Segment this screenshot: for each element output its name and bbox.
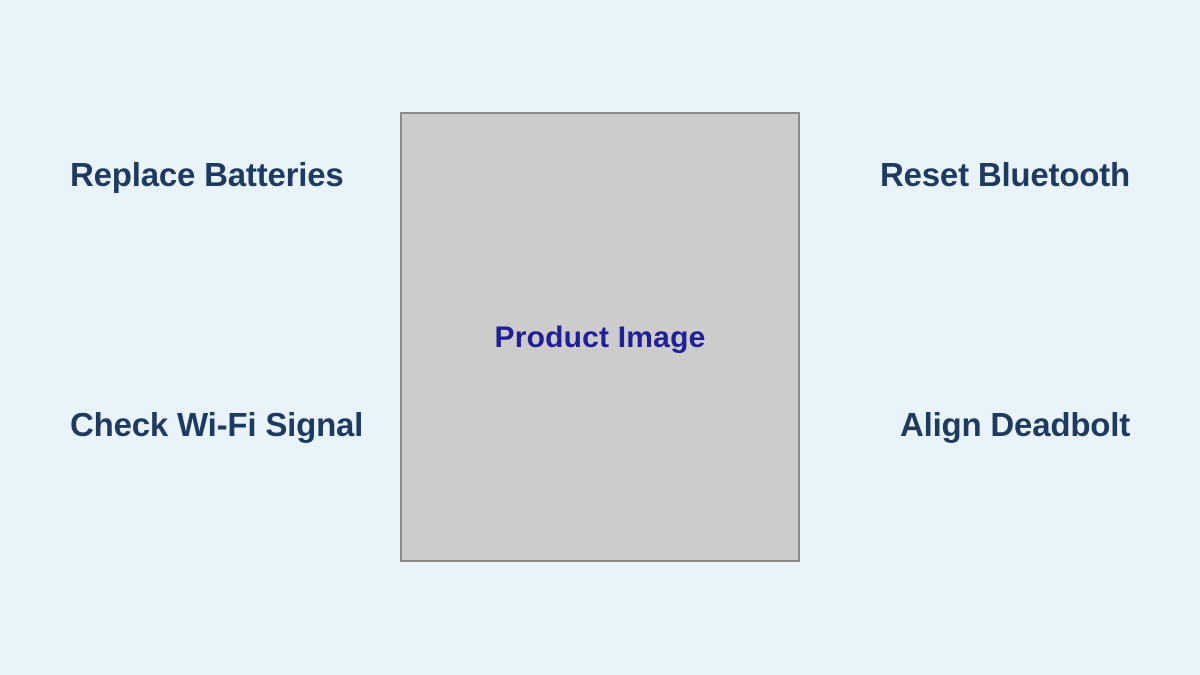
callout-label-top-right: Reset Bluetooth [880, 156, 1130, 193]
callout-align-deadbolt[interactable]: Align Deadbolt [810, 398, 1130, 452]
callout-reset-bluetooth[interactable]: Reset Bluetooth [810, 148, 1130, 202]
product-image-placeholder: Product Image [400, 112, 800, 562]
callout-check-wifi-signal[interactable]: Check Wi-Fi Signal [70, 398, 390, 452]
diagram-canvas: Replace Batteries Reset Bluetooth Check … [0, 0, 1200, 675]
callout-label-top-left: Replace Batteries [70, 156, 344, 193]
callout-label-bottom-right: Align Deadbolt [900, 406, 1130, 443]
product-image-placeholder-label: Product Image [495, 321, 706, 354]
callout-replace-batteries[interactable]: Replace Batteries [70, 148, 390, 202]
callout-label-bottom-left: Check Wi-Fi Signal [70, 406, 363, 443]
